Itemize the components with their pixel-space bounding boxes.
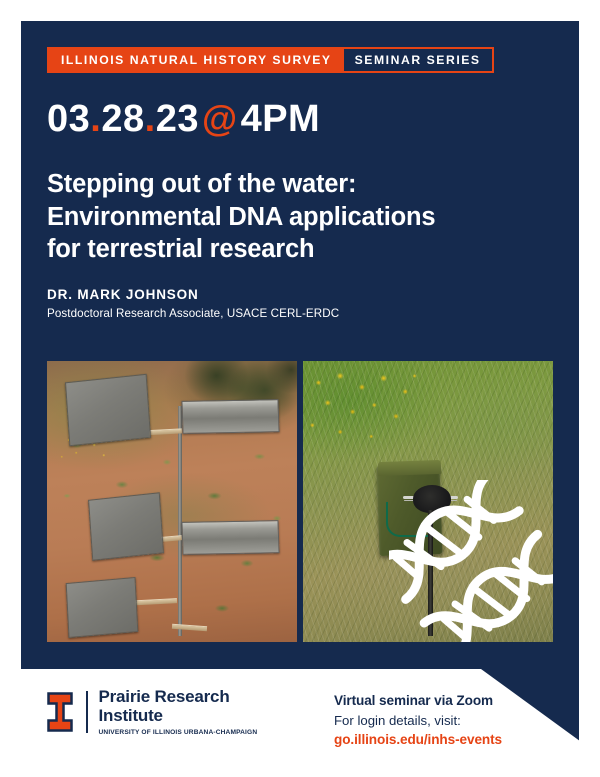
event-url-link[interactable]: go.illinois.edu/inhs-events <box>334 733 502 747</box>
seminar-series-banner: ILLINOIS NATURAL HISTORY SURVEY SEMINAR … <box>47 47 494 73</box>
sampler-trough-middle <box>181 520 279 555</box>
university-line: UNIVERSITY OF ILLINOIS URBANA-CHAMPAIGN <box>99 730 258 737</box>
talk-title-line-1: Stepping out of the water: <box>47 168 547 201</box>
talk-title-line-3: for terrestrial research <box>47 233 547 266</box>
date-separator-2: . <box>145 98 156 140</box>
air-sampler-photo <box>303 361 553 642</box>
air-sampler-intake-head <box>413 485 451 513</box>
sampler-trough-upper <box>181 399 279 434</box>
poster-footer: Prairie Research Institute UNIVERSITY OF… <box>21 669 579 756</box>
date-month: 03 <box>47 98 90 140</box>
zoom-details-block: Virtual seminar via Zoom For login detai… <box>334 694 502 746</box>
date-day: 28 <box>101 98 144 140</box>
air-sampler-pole <box>428 510 433 636</box>
air-sampler-lid <box>378 460 441 476</box>
seminar-poster: ILLINOIS NATURAL HISTORY SURVEY SEMINAR … <box>21 21 579 756</box>
sampler-plate-lower <box>66 577 138 638</box>
banner-org-label: ILLINOIS NATURAL HISTORY SURVEY <box>49 49 343 71</box>
banner-series-label: SEMINAR SERIES <box>344 49 492 71</box>
sampler-plate-middle <box>88 492 164 560</box>
zoom-subline: For login details, visit: <box>334 714 502 727</box>
date-separator-1: . <box>90 98 101 140</box>
sampler-plate-upper <box>65 374 151 446</box>
institute-line-2: Institute <box>99 706 258 725</box>
event-datetime: 03.28.23@4PM <box>47 100 320 138</box>
event-time: 4PM <box>241 98 321 140</box>
photo-row <box>47 361 553 642</box>
field-sampler-array-photo <box>47 361 297 642</box>
talk-title-line-2: Environmental DNA applications <box>47 201 547 234</box>
logo-divider <box>86 691 88 733</box>
logo-wordmark: Prairie Research Institute UNIVERSITY OF… <box>99 687 258 736</box>
zoom-headline: Virtual seminar via Zoom <box>334 694 502 708</box>
talk-title: Stepping out of the water: Environmental… <box>47 168 547 266</box>
at-symbol: @ <box>199 98 241 139</box>
illinois-block-i-icon <box>47 692 73 732</box>
speaker-affiliation: Postdoctoral Research Associate, USACE C… <box>47 308 339 320</box>
prairie-research-institute-logo: Prairie Research Institute UNIVERSITY OF… <box>47 687 257 736</box>
institute-line-1: Prairie Research <box>99 687 258 706</box>
date-year: 23 <box>156 98 199 140</box>
speaker-name: DR. MARK JOHNSON <box>47 288 199 302</box>
